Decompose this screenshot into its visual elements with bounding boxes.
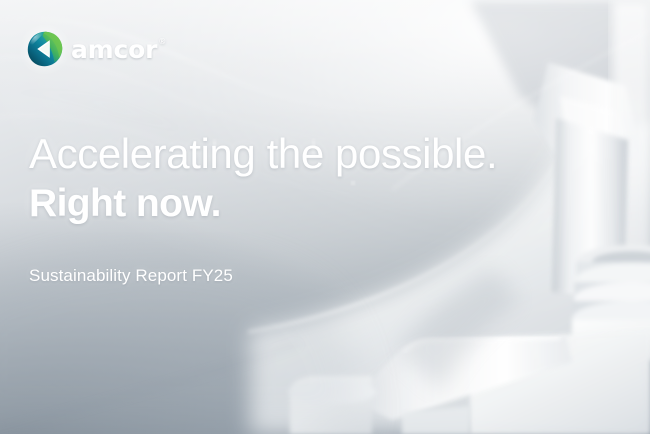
brand-wordmark-text: amcor — [71, 37, 157, 62]
report-subtitle: Sustainability Report FY25 — [29, 267, 233, 284]
amcor-leaf-logo-icon — [26, 30, 64, 68]
brand-logo-lockup[interactable]: amcor ® — [26, 30, 166, 68]
headline-line-1: Accelerating the possible. — [29, 133, 497, 175]
cover-content: amcor ® Accelerating the possible. Right… — [0, 0, 650, 434]
report-cover: amcor ® Accelerating the possible. Right… — [0, 0, 650, 434]
headline-line-2: Right now. — [29, 184, 221, 223]
registered-trademark-symbol: ® — [158, 38, 166, 46]
brand-wordmark: amcor ® — [71, 37, 166, 62]
